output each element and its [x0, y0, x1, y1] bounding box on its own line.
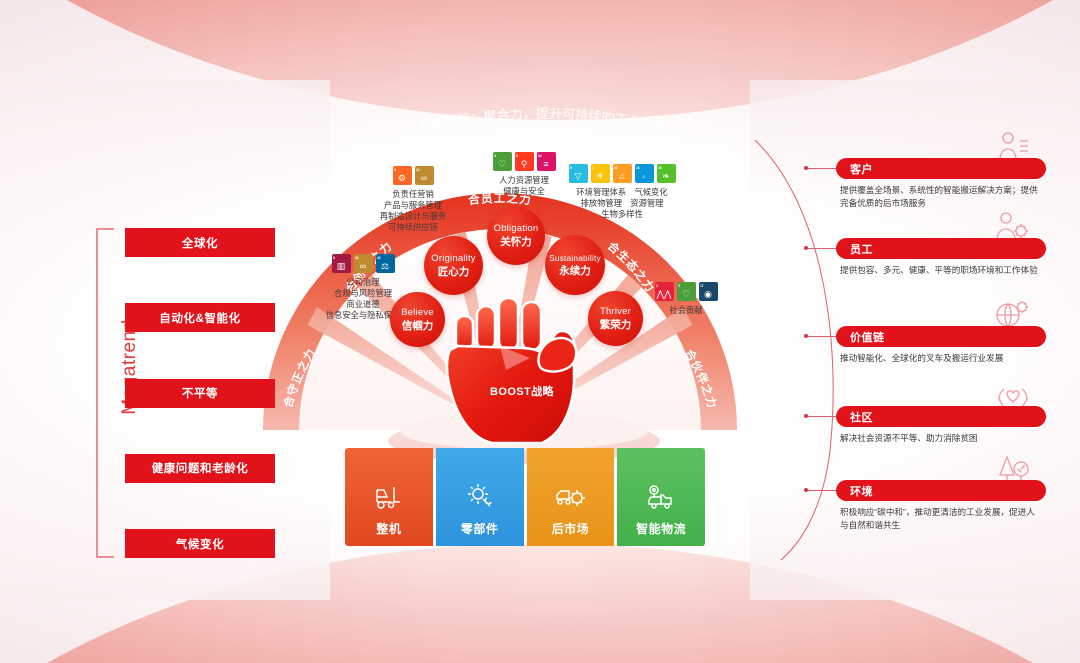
sdg-number: 15	[657, 164, 676, 170]
pill-obligation-en: Obligation	[494, 223, 539, 235]
sdg-tile-employee-3: 10≡	[537, 152, 556, 171]
stakeholder-item-community[interactable]: 社区解决社会资源不平等、助力消除贫困	[836, 406, 1046, 445]
sdg-glyph: ⚖	[376, 262, 395, 273]
platform-segment-forklift[interactable]: 整机	[345, 448, 433, 546]
megatrend-item-automation[interactable]: 自动化&智能化	[125, 303, 275, 332]
sdg-glyph: ∞	[415, 174, 434, 185]
stakeholder-leader-dot	[804, 334, 808, 338]
sdg-number: 3	[677, 282, 696, 288]
sdg-tile-integrity-2: 12∞	[354, 254, 373, 273]
sdg-row-partner: 1⋀⋀3♡17◉	[640, 282, 732, 301]
sdg-tile-partner-1: 1⋀⋀	[655, 282, 674, 301]
sdg-glyph: ≡	[537, 160, 556, 171]
pill-sustainability-cn: 永续力	[559, 264, 591, 278]
fist-icon	[434, 288, 610, 448]
stakeholder-item-customer[interactable]: 客户提供覆盖全场景、系统性的智能搬运解决方案；提供完备优质的后市场服务	[836, 158, 1046, 210]
sector-line: 排放物管理 资源管理	[566, 198, 678, 209]
megatrend-list: 全球化自动化&智能化不平等健康问题和老龄化气候变化	[125, 228, 275, 558]
stakeholder-desc-value-chain: 推动智能化、全球化的叉车及搬运行业发展	[836, 347, 1046, 365]
sector-line: 社会贡献	[640, 305, 732, 316]
stakeholder-item-employee[interactable]: 员工提供包容、多元、健康、平等的职场环境和工作体验	[836, 238, 1046, 277]
platform-segment-parts[interactable]: 零部件	[436, 448, 524, 546]
sdg-row-integrity: 8▥12∞16⚖	[290, 254, 436, 273]
sector-content-ecology: 6▽7☀11⌂14𝇋15❧ 环境管理体系 气候变化排放物管理 资源管理生物多样性	[566, 164, 678, 220]
sector-content-employee: 3♡5⚲10≡ 人力资源管理健康与安全	[466, 152, 582, 197]
sector-line: 健康与安全	[466, 186, 582, 197]
platform-segment-aftermarket[interactable]: 后市场	[527, 448, 615, 546]
stakeholder-desc-employee: 提供包容、多元、健康、平等的职场环境和工作体验	[836, 259, 1046, 277]
sdg-number: 7	[591, 164, 610, 170]
stakeholder-leader-dot	[804, 414, 808, 418]
sdg-tile-integrity-1: 8▥	[332, 254, 351, 273]
sdg-glyph: ♡	[677, 290, 696, 301]
sdg-glyph: ⌂	[613, 172, 632, 183]
sdg-number: 17	[699, 282, 718, 288]
boost-strategy-label: BOOST战略	[434, 383, 610, 399]
stakeholder-item-value-chain[interactable]: 价值链推动智能化、全球化的叉车及搬运行业发展	[836, 326, 1046, 365]
sdg-tile-ecology-4: 14𝇋	[635, 164, 654, 183]
pill-believe-en: Believe	[401, 307, 434, 319]
sdg-tile-integrity-3: 16⚖	[376, 254, 395, 273]
sdg-row-innovation: 9⚙12∞	[350, 166, 476, 185]
stakeholder-title-community[interactable]: 社区	[836, 406, 1046, 427]
sdg-glyph: ⚲	[515, 160, 534, 171]
gear-wrench-icon	[465, 482, 495, 515]
platform-segment-label: 零部件	[461, 520, 499, 537]
sdg-number: 8	[332, 254, 351, 260]
stakeholder-title-employee[interactable]: 员工	[836, 238, 1046, 259]
sdg-tile-employee-2: 5⚲	[515, 152, 534, 171]
sector-line: 产品与服务管理	[350, 200, 476, 211]
sdg-glyph: ⚙	[393, 174, 412, 185]
sector-content-innovation: 9⚙12∞ 负责任营销产品与服务管理再制造设计与服务可持续供应链	[350, 166, 476, 233]
sector-lines-employee: 人力资源管理健康与安全	[466, 175, 582, 197]
pill-obligation-cn: 关怀力	[500, 235, 532, 249]
smart-delivery-icon	[645, 484, 677, 515]
sdg-tile-partner-3: 17◉	[699, 282, 718, 301]
infographic-canvas: 使命目标：聚合力，提升可持续的工业未来 发展愿景：成为具有全球影响力的物料搬运解…	[0, 0, 1080, 663]
stakeholder-title-value-chain[interactable]: 价值链	[836, 326, 1046, 347]
megatrend-item-climate[interactable]: 气候变化	[125, 529, 275, 558]
stakeholder-leader-dot	[804, 488, 808, 492]
sector-lines-ecology: 环境管理体系 气候变化排放物管理 资源管理生物多样性	[566, 187, 678, 220]
stakeholder-leader-line	[806, 336, 836, 337]
sdg-tile-ecology-2: 7☀	[591, 164, 610, 183]
sdg-tile-employee-1: 3♡	[493, 152, 512, 171]
mission-line: 使命目标：聚合力，提升可持续的工业未来	[417, 106, 667, 134]
mission-text: 使命目标：聚合力，提升可持续的工业未来	[417, 106, 667, 134]
platform-segment-logistics[interactable]: 智能物流	[617, 448, 705, 546]
megatrend-item-globalization[interactable]: 全球化	[125, 228, 275, 257]
sdg-glyph: ♡	[493, 160, 512, 171]
stakeholder-leader-dot	[804, 246, 808, 250]
stakeholder-desc-community: 解决社会资源不平等、助力消除贫困	[836, 427, 1046, 445]
platform-segment-label: 整机	[376, 520, 401, 537]
sector-line: 生物多样性	[566, 209, 678, 220]
sdg-glyph: ◉	[699, 290, 718, 301]
sdg-tile-ecology-5: 15❧	[657, 164, 676, 183]
sdg-number: 10	[537, 152, 556, 158]
platform-segment-label: 智能物流	[636, 520, 686, 537]
sdg-number: 16	[376, 254, 395, 260]
sdg-tile-ecology-1: 6▽	[569, 164, 588, 183]
stakeholder-leader-line	[806, 248, 836, 249]
stakeholder-leader-line	[806, 490, 836, 491]
stakeholder-desc-customer: 提供覆盖全场景、系统性的智能搬运解决方案；提供完备优质的后市场服务	[836, 179, 1046, 210]
stakeholder-leader-dot	[804, 166, 808, 170]
sdg-number: 3	[493, 152, 512, 158]
stakeholder-panel: 客户提供覆盖全场景、系统性的智能搬运解决方案；提供完备优质的后市场服务员工提供包…	[806, 158, 1056, 558]
sdg-glyph: ▥	[332, 262, 351, 273]
sdg-tile-partner-2: 3♡	[677, 282, 696, 301]
sdg-number: 12	[354, 254, 373, 260]
sdg-glyph: ⋀⋀	[655, 290, 674, 301]
megatrend-item-inequality[interactable]: 不平等	[125, 379, 275, 408]
sector-line: 人力资源管理	[466, 175, 582, 186]
pill-sustainability-en: Sustainability	[549, 252, 601, 264]
forklift-icon	[374, 484, 404, 515]
pill-originality[interactable]: Originality 匠心力	[424, 236, 483, 295]
sdg-row-employee: 3♡5⚲10≡	[466, 152, 582, 171]
pill-obligation[interactable]: Obligation 关怀力	[487, 207, 545, 265]
megatrend-brace	[96, 228, 98, 558]
sdg-tile-ecology-3: 11⌂	[613, 164, 632, 183]
sector-line: 环境管理体系 气候变化	[566, 187, 678, 198]
sdg-row-ecology: 6▽7☀11⌂14𝇋15❧	[566, 164, 678, 183]
truck-gear-icon	[554, 484, 586, 515]
platform-segment-label: 后市场	[552, 520, 590, 537]
sector-line: 可持续供应链	[350, 222, 476, 233]
stakeholder-title-environment[interactable]: 环境	[836, 480, 1046, 501]
sdg-number: 1	[655, 282, 674, 288]
sdg-number: 6	[569, 164, 588, 170]
sector-lines-partner: 社会贡献	[640, 305, 732, 316]
sdg-number: 14	[635, 164, 654, 170]
sdg-tile-innovation-2: 12∞	[415, 166, 434, 185]
sdg-number: 9	[393, 166, 412, 172]
sector-line: 公司治理	[290, 277, 436, 288]
sector-lines-innovation: 负责任营销产品与服务管理再制造设计与服务可持续供应链	[350, 189, 476, 233]
pill-believe-cn: 信帼力	[402, 319, 434, 333]
pill-sustainability[interactable]: Sustainability 永续力	[545, 235, 605, 295]
pill-originality-en: Originality	[431, 253, 475, 265]
sdg-tile-innovation-1: 9⚙	[393, 166, 412, 185]
sdg-number: 12	[415, 166, 434, 172]
stakeholder-item-environment[interactable]: 环境积极响应“碳中和”，推动更清洁的工业发展，促进人与自然和谐共生	[836, 480, 1046, 532]
stakeholder-title-customer[interactable]: 客户	[836, 158, 1046, 179]
sdg-number: 5	[515, 152, 534, 158]
sector-line: 负责任营销	[350, 189, 476, 200]
pill-originality-cn: 匠心力	[438, 265, 470, 279]
sdg-glyph: 𝇋	[635, 172, 654, 183]
sector-content-partner: 1⋀⋀3♡17◉ 社会贡献	[640, 282, 732, 316]
sdg-glyph: ☀	[591, 172, 610, 183]
sdg-glyph: ▽	[569, 172, 588, 183]
megatrend-brace-top	[96, 228, 114, 230]
megatrend-item-health-aging[interactable]: 健康问题和老龄化	[125, 454, 275, 483]
stakeholder-leader-line	[806, 416, 836, 417]
megatrend-panel: Megatrend 全球化自动化&智能化不平等健康问题和老龄化气候变化	[96, 228, 276, 558]
sdg-number: 11	[613, 164, 632, 170]
stakeholder-leader-line	[806, 168, 836, 169]
business-platform: 整机零部件后市场智能物流	[345, 448, 705, 546]
sector-line: 再制造设计与服务	[350, 211, 476, 222]
sdg-glyph: ∞	[354, 262, 373, 273]
stakeholder-desc-environment: 积极响应“碳中和”，推动更清洁的工业发展，促进人与自然和谐共生	[836, 501, 1046, 532]
megatrend-brace-bottom	[96, 556, 114, 558]
sdg-glyph: ❧	[657, 172, 676, 183]
